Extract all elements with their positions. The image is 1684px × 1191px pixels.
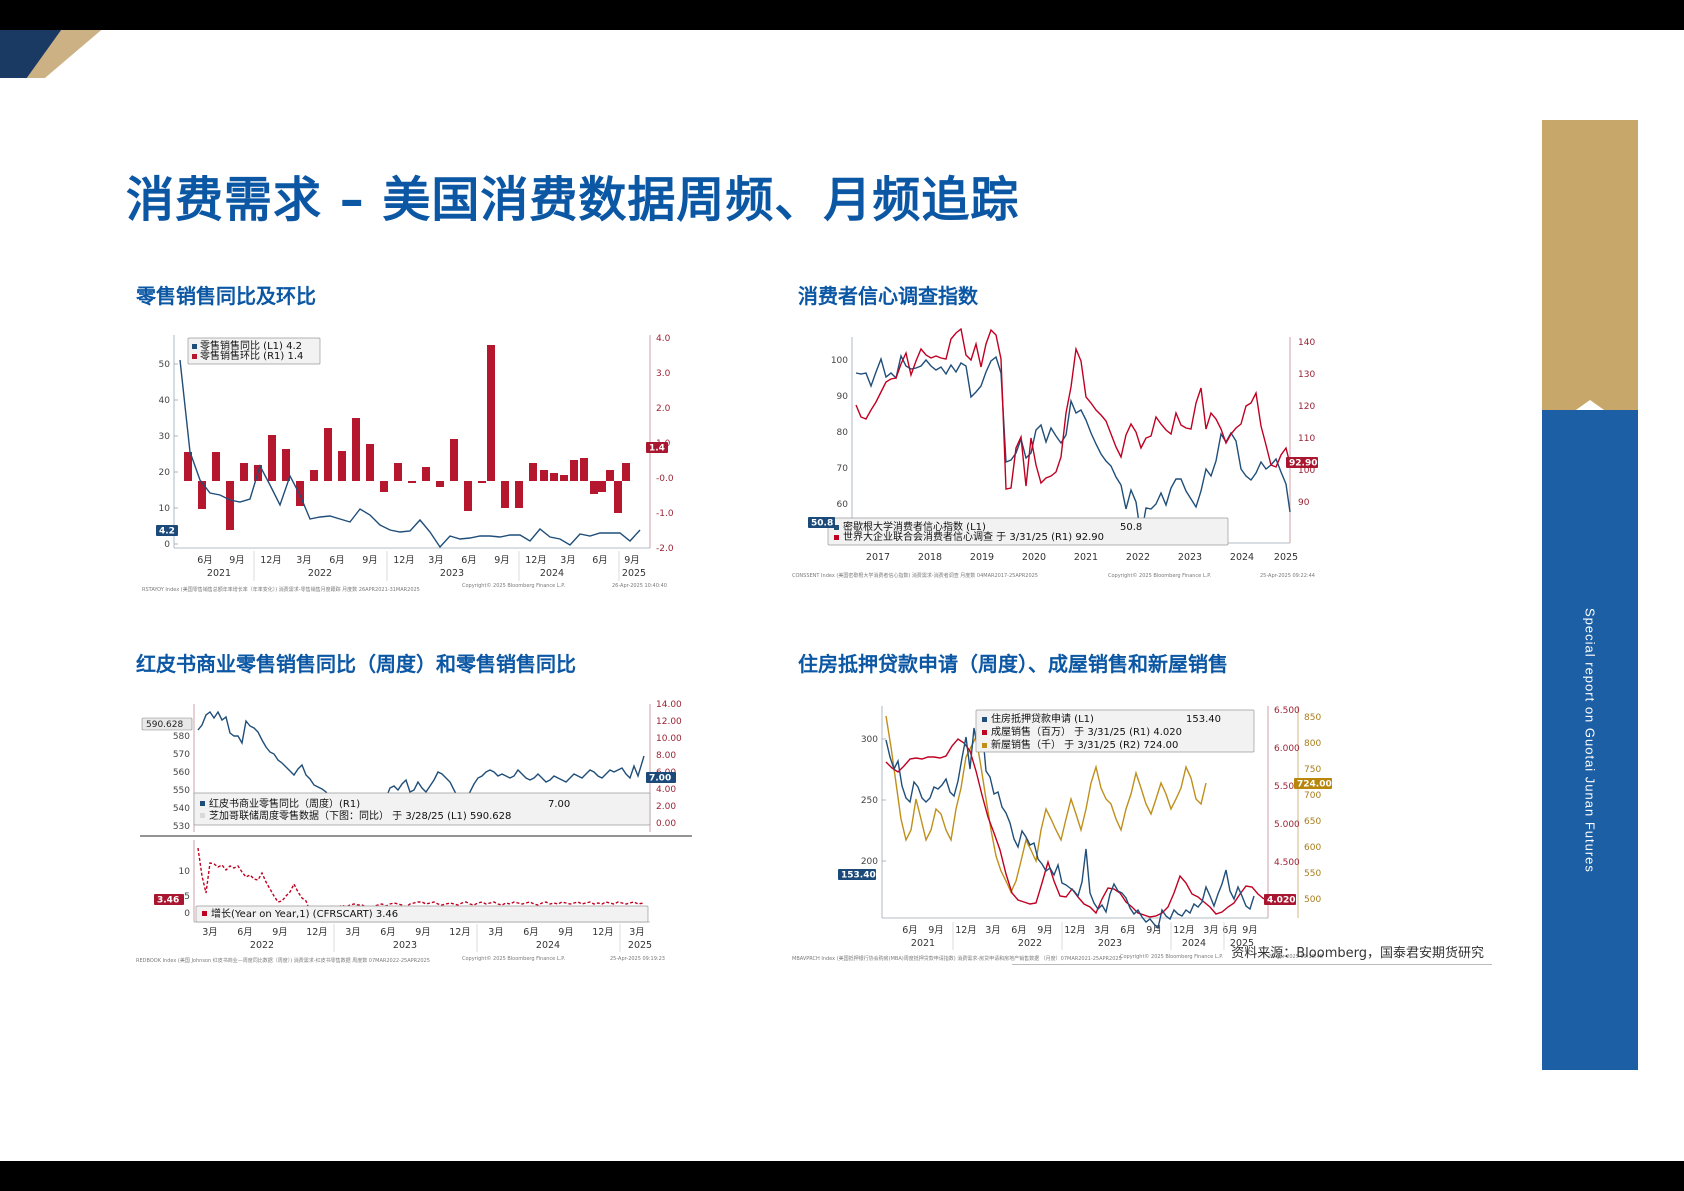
legend-confidence[interactable]: 密歇根大学消费者信心指数 (L1) 50.8 世界大企业联合会消费者信心调查 于… [828, 518, 1228, 545]
upper-left-ticks-redbook: 530 540 550 560 570 580 [173, 732, 190, 832]
x-axis-years-confidence: 2017 2018 2019 2020 2021 2022 2023 2024 … [866, 552, 1298, 563]
retail-mom-bars [184, 345, 630, 530]
svg-text:2025: 2025 [628, 940, 652, 951]
svg-text:590.628: 590.628 [146, 720, 183, 730]
legend-redbook-lower[interactable]: 增长(Year on Year,1) (CFRSCART) 3.46 [196, 906, 648, 922]
svg-text:2023: 2023 [1178, 552, 1202, 563]
svg-text:9月: 9月 [272, 927, 288, 938]
svg-text:9月: 9月 [1242, 925, 1258, 936]
svg-text:成屋销售（百万） 于 3/31/25 (R1) 4.020: 成屋销售（百万） 于 3/31/25 (R1) 4.020 [991, 725, 1182, 738]
svg-text:世界大企业联合会消费者信心调查 于 3/31/25 (R1): 世界大企业联合会消费者信心调查 于 3/31/25 (R1) 92.90 [843, 530, 1104, 543]
svg-text:750: 750 [1304, 765, 1321, 775]
svg-text:550: 550 [1304, 869, 1321, 879]
svg-text:560: 560 [173, 768, 190, 778]
chart-footer-left-confidence: CONSSENT Index (美国密歇根大学消费者信心指数) 消费需求-消费者… [792, 572, 1038, 579]
svg-text:12月: 12月 [592, 927, 614, 938]
svg-text:2025: 2025 [622, 568, 646, 579]
svg-text:570: 570 [173, 750, 190, 760]
svg-text:300: 300 [861, 735, 878, 745]
svg-text:6.000: 6.000 [1274, 744, 1300, 754]
svg-text:580: 580 [173, 732, 190, 742]
svg-text:3月: 3月 [985, 925, 1001, 936]
svg-text:600: 600 [1304, 843, 1321, 853]
upper-right-ticks-redbook: 0.00 2.00 4.00 6.00 8.00 10.00 12.00 14.… [656, 700, 682, 829]
svg-text:2021: 2021 [1074, 552, 1098, 563]
svg-text:700: 700 [1304, 791, 1321, 801]
svg-text:9月: 9月 [558, 927, 574, 938]
lower-left-ticks-redbook: 0 5 10 [179, 867, 191, 919]
svg-text:6月: 6月 [380, 927, 396, 938]
svg-text:6月: 6月 [1120, 925, 1136, 936]
x-axis-years-redbook: 2022 2023 2024 2025 [250, 940, 652, 951]
panel-heading-redbook: 红皮书商业零售销售同比（周度）和零售销售同比 [136, 648, 576, 677]
x-axis-years-housing: 2021 2022 2023 2024 2025 [911, 938, 1254, 949]
value-tag-chicago-fed: 590.628 [142, 718, 192, 730]
svg-text:红皮书商业零售同比（周度）(R1): 红皮书商业零售同比（周度）(R1) [209, 797, 360, 810]
svg-text:2.0: 2.0 [656, 404, 671, 414]
svg-text:3月: 3月 [345, 927, 361, 938]
svg-text:6月: 6月 [1011, 925, 1027, 936]
value-tag-conference-board: 92.90 [1286, 457, 1318, 469]
svg-text:2022: 2022 [1018, 938, 1042, 949]
svg-text:12月: 12月 [1173, 925, 1195, 936]
source-divider [1012, 964, 1492, 965]
svg-text:50.8: 50.8 [1120, 522, 1142, 533]
svg-text:12月: 12月 [393, 555, 415, 566]
svg-text:153.40: 153.40 [1186, 714, 1221, 725]
chart-footer-right-confidence: 25-Apr-2025 09:22:44 [1260, 573, 1315, 579]
svg-text:2023: 2023 [1098, 938, 1122, 949]
svg-text:3月: 3月 [428, 555, 444, 566]
right-axis-ticks-confidence: 90 100 110 120 130 140 [1298, 338, 1315, 508]
svg-text:0.00: 0.00 [656, 819, 676, 829]
svg-text:10.00: 10.00 [656, 734, 682, 744]
source-note: 资料来源：Bloomberg，国泰君安期货研究 [1231, 942, 1484, 961]
svg-text:50.8: 50.8 [811, 519, 833, 529]
retail-yoy-line [180, 360, 640, 547]
svg-text:12月: 12月 [449, 927, 471, 938]
svg-text:6月: 6月 [329, 555, 345, 566]
svg-text:10: 10 [179, 867, 191, 877]
chart-housing[interactable]: 300 250 200 6.500 6.000 5.500 5.000 4.50… [790, 690, 1360, 970]
svg-text:2019: 2019 [970, 552, 994, 563]
svg-text:2017: 2017 [866, 552, 890, 563]
svg-text:1.4: 1.4 [649, 444, 665, 454]
svg-text:零售销售环比 (R1) 1.4: 零售销售环比 (R1) 1.4 [200, 349, 303, 362]
svg-text:7.00: 7.00 [649, 774, 671, 784]
svg-text:12月: 12月 [525, 555, 547, 566]
redbook-yoy-line [198, 848, 644, 914]
value-tag-new-home: 724.00 [1294, 778, 1332, 790]
svg-text:250: 250 [861, 796, 878, 806]
chart-footer-left-retail: RSTAYOY Index (美国零售销售总额年率增长率（年率变化）) 消费需求… [142, 586, 420, 593]
svg-text:6月: 6月 [461, 555, 477, 566]
value-tag-cfrscart: 3.46 [154, 894, 184, 906]
panel-heading-housing: 住房抵押贷款申请（周度）、成屋销售和新屋销售 [798, 648, 1228, 677]
svg-text:6月: 6月 [592, 555, 608, 566]
svg-text:-1.0: -1.0 [656, 509, 674, 519]
svg-text:9月: 9月 [415, 927, 431, 938]
chart-footer-left-redbook: REDBOOK Index (美国 Johnson 红皮书商业—周度同比数据（周… [136, 957, 430, 964]
svg-text:550: 550 [173, 786, 190, 796]
svg-text:500: 500 [1304, 895, 1321, 905]
svg-text:2021: 2021 [911, 938, 935, 949]
value-tag-redbook: 7.00 [646, 772, 676, 784]
chart-redbook-retail[interactable]: 530 540 550 560 570 580 0.00 2.00 4.00 6… [132, 690, 692, 970]
gold-side-banner [1542, 120, 1638, 400]
right-axis2-ticks-housing: 850 800 750 700 650 600 550 500 [1304, 713, 1321, 905]
value-tag-retail-yoy: 4.2 [156, 525, 178, 537]
slide-canvas: Special report on Guotai Junan Futures 4… [0, 30, 1684, 1161]
svg-text:650: 650 [1304, 817, 1321, 827]
svg-text:3月: 3月 [296, 555, 312, 566]
svg-text:3月: 3月 [488, 927, 504, 938]
svg-text:6月: 6月 [902, 925, 918, 936]
svg-text:3月: 3月 [202, 927, 218, 938]
chart-footer-mid-redbook: Copyright© 2025 Bloomberg Finance L.P. [462, 955, 565, 962]
svg-text:6月: 6月 [1222, 925, 1238, 936]
svg-text:9月: 9月 [1146, 925, 1162, 936]
svg-text:724.00: 724.00 [1297, 780, 1332, 790]
svg-text:3月: 3月 [1094, 925, 1110, 936]
legend-retail[interactable]: 零售销售同比 (L1) 4.2 零售销售环比 (R1) 1.4 [188, 338, 320, 364]
svg-text:9月: 9月 [928, 925, 944, 936]
chart-footer-right-redbook: 25-Apr-2025 09:19:23 [610, 956, 665, 962]
svg-text:50: 50 [159, 360, 171, 370]
svg-text:92.90: 92.90 [1289, 459, 1317, 469]
svg-text:0: 0 [164, 540, 170, 550]
panel-heading-retail-sales: 零售销售同比及环比 [136, 280, 316, 309]
x-axis-labels-redbook: 3月 6月 9月 12月 3月 6月 9月 12月 3月 6月 9月 12月 3… [202, 927, 645, 938]
x-axis-labels-retail: 6月 9月 12月 3月 6月 9月 12月 3月 6月 9月 12月 3月 6… [197, 555, 640, 566]
chart-footer-mid-housing: Copyright© 2025 Bloomberg Finance L.P. [1120, 953, 1223, 960]
chart-footer-right-retail: 26-Apr-2025 10:40:40 [612, 583, 667, 589]
left-axis-ticks-retail: 0 10 20 30 40 50 [159, 360, 178, 550]
svg-text:4.00: 4.00 [656, 785, 676, 795]
svg-text:12月: 12月 [260, 555, 282, 566]
svg-text:-2.0: -2.0 [656, 544, 674, 554]
svg-text:153.40: 153.40 [841, 871, 876, 881]
svg-text:2023: 2023 [393, 940, 417, 951]
svg-text:2025: 2025 [1274, 552, 1298, 563]
svg-text:530: 530 [173, 822, 190, 832]
value-tag-mortgage: 153.40 [838, 869, 876, 881]
svg-text:130: 130 [1298, 370, 1315, 380]
svg-text:5: 5 [184, 892, 190, 902]
value-tag-michigan: 50.8 [808, 517, 835, 529]
svg-text:6.500: 6.500 [1274, 706, 1300, 716]
x-axis-labels-housing: 6月 9月 12月 3月 6月 9月 12月 3月 6月 9月 12月 3月 6… [902, 925, 1258, 936]
svg-text:2021: 2021 [207, 568, 231, 579]
conference-board-line [856, 329, 1290, 489]
svg-text:3月: 3月 [1203, 925, 1219, 936]
left-axis-ticks-confidence: 60 70 80 90 100 [831, 356, 848, 510]
svg-text:90: 90 [1298, 498, 1310, 508]
svg-text:芝加哥联储周度零售数据（下图：同比） 于 3/28/25 (: 芝加哥联储周度零售数据（下图：同比） 于 3/28/25 (L1) 590.62… [209, 809, 511, 822]
svg-text:12月: 12月 [1064, 925, 1086, 936]
svg-text:8.00: 8.00 [656, 751, 676, 761]
panel-heading-confidence: 消费者信心调查指数 [798, 280, 978, 309]
svg-text:6月: 6月 [197, 555, 213, 566]
svg-text:9月: 9月 [494, 555, 510, 566]
svg-text:2018: 2018 [918, 552, 942, 563]
svg-text:2024: 2024 [540, 568, 564, 579]
legend-redbook[interactable]: 红皮书商业零售同比（周度）(R1) 7.00 芝加哥联储周度零售数据（下图：同比… [194, 793, 650, 825]
page-number: 43 [1644, 1006, 1666, 1029]
svg-text:200: 200 [861, 857, 878, 867]
svg-text:9月: 9月 [624, 555, 640, 566]
svg-text:0: 0 [184, 909, 190, 919]
svg-text:140: 140 [1298, 338, 1315, 348]
svg-text:2022: 2022 [1126, 552, 1150, 563]
svg-text:3月: 3月 [560, 555, 576, 566]
svg-text:850: 850 [1304, 713, 1321, 723]
svg-text:30: 30 [159, 432, 171, 442]
svg-text:12月: 12月 [955, 925, 977, 936]
chart-footer-mid-confidence: Copyright© 2025 Bloomberg Finance L.P. [1108, 572, 1211, 579]
svg-text:2022: 2022 [308, 568, 332, 579]
svg-text:90: 90 [837, 392, 849, 402]
value-tag-retail-mom: 1.4 [646, 442, 668, 454]
svg-text:3.46: 3.46 [157, 896, 179, 906]
svg-text:4.020: 4.020 [1267, 896, 1295, 906]
svg-text:2020: 2020 [1022, 552, 1046, 563]
svg-text:2024: 2024 [536, 940, 560, 951]
svg-text:9月: 9月 [362, 555, 378, 566]
svg-text:40: 40 [159, 396, 171, 406]
chart-footer-left-housing: MBAVPRCH Index (美国抵押银行协会购房(MBA)周度抵押贷款申请指… [792, 955, 1122, 962]
svg-text:110: 110 [1298, 434, 1315, 444]
svg-text:70: 70 [837, 464, 849, 474]
svg-text:2024: 2024 [1230, 552, 1254, 563]
svg-text:2022: 2022 [250, 940, 274, 951]
svg-text:4.2: 4.2 [159, 527, 175, 537]
svg-text:9月: 9月 [1037, 925, 1053, 936]
svg-text:6月: 6月 [523, 927, 539, 938]
svg-text:7.00: 7.00 [548, 799, 570, 810]
corner-ribbon-decoration [0, 30, 130, 130]
svg-text:12月: 12月 [306, 927, 328, 938]
chart-footer-mid-retail: Copyright© 2025 Bloomberg Finance L.P. [462, 582, 565, 589]
svg-text:9月: 9月 [229, 555, 245, 566]
svg-text:120: 120 [1298, 402, 1315, 412]
svg-text:3月: 3月 [629, 927, 645, 938]
svg-text:800: 800 [1304, 739, 1321, 749]
svg-text:12.00: 12.00 [656, 717, 682, 727]
svg-text:增长(Year on Year,1) (CFRSCART): 增长(Year on Year,1) (CFRSCART) 3.46 [211, 907, 398, 920]
svg-text:10: 10 [159, 504, 171, 514]
svg-text:-0.0: -0.0 [656, 474, 674, 484]
svg-text:14.00: 14.00 [656, 700, 682, 710]
svg-text:2024: 2024 [1182, 938, 1206, 949]
x-axis-years-retail: 2021 2022 2023 2024 2025 [207, 568, 646, 579]
svg-text:20: 20 [159, 468, 171, 478]
chart-retail-sales[interactable]: 0 10 20 30 40 50 -2.0 -1.0 -0.0 1.0 2.0 … [132, 315, 692, 600]
svg-text:6月: 6月 [237, 927, 253, 938]
svg-text:100: 100 [831, 356, 848, 366]
michigan-sentiment-line [856, 356, 1290, 536]
value-tag-existing-home: 4.020 [1264, 894, 1296, 906]
svg-text:5.000: 5.000 [1274, 820, 1300, 830]
svg-text:540: 540 [173, 804, 190, 814]
svg-text:4.0: 4.0 [656, 334, 671, 344]
svg-text:2023: 2023 [440, 568, 464, 579]
svg-text:4.500: 4.500 [1274, 858, 1300, 868]
svg-text:2.00: 2.00 [656, 802, 676, 812]
svg-text:80: 80 [837, 428, 849, 438]
page-title: 消费需求 – 美国消费数据周频、月频追踪 [126, 160, 1019, 230]
svg-text:60: 60 [837, 500, 849, 510]
svg-text:住房抵押贷款申请 (L1): 住房抵押贷款申请 (L1) [991, 712, 1094, 725]
svg-text:新屋销售（千） 于 3/31/25 (R2) 724.00: 新屋销售（千） 于 3/31/25 (R2) 724.00 [991, 738, 1178, 751]
side-banner-label: Special report on Guotai Junan Futures [1542, 410, 1638, 1070]
chart-consumer-confidence[interactable]: 60 70 80 90 100 90 100 110 120 130 140 密… [790, 315, 1360, 600]
svg-text:3.0: 3.0 [656, 369, 671, 379]
legend-housing[interactable]: 住房抵押贷款申请 (L1) 153.40 成屋销售（百万） 于 3/31/25 … [976, 710, 1254, 752]
